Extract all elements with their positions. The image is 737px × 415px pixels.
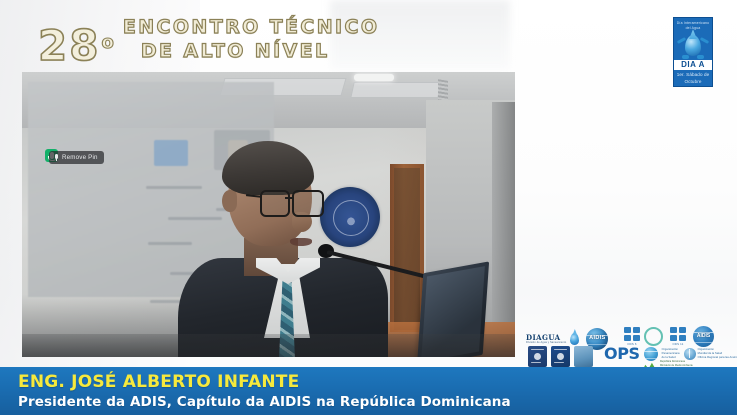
event-title-line-2: DE ALTO NÍVEL (141, 40, 380, 64)
foreground-shadow (22, 334, 515, 357)
video-participant-tile[interactable]: Remove Pin inapa (22, 72, 515, 357)
video-scene (22, 72, 515, 357)
event-ordinal: o (101, 34, 113, 52)
speaker-glasses (260, 190, 322, 214)
drop-body-icon (685, 35, 701, 56)
aidis-name: AIDIS (586, 335, 608, 341)
glasses-lens-left (260, 190, 290, 217)
speaker-hair (222, 141, 314, 195)
remove-pin-label: Remove Pin (62, 154, 98, 161)
sponsor-logo-strip: DIAGUA División de Agua y Saneamiento AI… (516, 322, 737, 368)
diagua-water-drop-icon (570, 333, 579, 345)
badge-line (531, 362, 541, 363)
ops-acronym: OPS (604, 346, 640, 362)
un-globe-icon: AIDIS (693, 326, 714, 347)
badge-emblem-icon (557, 353, 564, 360)
event-title-line-1: ENCONTRO TÉCNICO (123, 16, 380, 40)
ceiling-panel (350, 82, 441, 98)
ceiling-light (354, 74, 394, 81)
sdg-item: ODS 11 (670, 327, 686, 346)
partner-badge (551, 346, 570, 367)
who-line-3: Oficina Regional para las Américas (698, 356, 737, 360)
room-right-strip (492, 102, 515, 352)
drop-arm-right-icon (700, 37, 709, 44)
pin-icon (54, 154, 59, 162)
drop-foot-right-icon (697, 55, 704, 59)
badge-line (531, 349, 544, 350)
who-emblem-icon (684, 348, 696, 360)
dia-interamericano-agua-logo: Día Interamericano del Agua DIA A 1er. S… (673, 17, 713, 87)
ops-org-lines: Organización Panamericana de la Salud (662, 348, 680, 360)
event-title: 28 o ENCONTRO TÉCNICO DE ALTO NÍVEL (38, 16, 379, 66)
sdg-grid-icon (624, 327, 640, 341)
badge-line (554, 349, 567, 350)
diagua-name: DIAGUA (526, 334, 566, 341)
speaker-mouth (290, 238, 312, 246)
partner-badge-photo (574, 346, 593, 367)
ops-org-block: Organización Panamericana de la Salud (662, 348, 680, 360)
speaker-name: ENG. JOSÉ ALBERTO INFANTE (18, 372, 737, 393)
speaker-figure (172, 146, 422, 357)
screenshot-stage: 28 o ENCONTRO TÉCNICO DE ALTO NÍVEL Día … (0, 0, 737, 415)
partner-badge-cards (528, 346, 593, 367)
sdg-ring-icon (644, 327, 663, 346)
diagua-subtitle: División de Agua y Saneamiento (526, 341, 566, 345)
speaker-role: Presidente da ADIS, Capítulo da AIDIS na… (18, 394, 737, 412)
speaker-lower-third-banner: ENG. JOSÉ ALBERTO INFANTE Presidente da … (0, 367, 737, 415)
dia-logo-bottom-text: 1er. Sábado de Octubre (674, 72, 712, 86)
diagua-logo: DIAGUA División de Agua y Saneamiento (526, 334, 566, 345)
badge-emblem-icon (534, 353, 541, 360)
ops-globe-icon (644, 347, 658, 361)
remove-pin-button[interactable]: Remove Pin (49, 151, 104, 164)
drop-foot-left-icon (682, 55, 689, 59)
sdg-grid-icon (670, 327, 686, 341)
event-number: 28 (38, 27, 100, 66)
glasses-lens-right (292, 190, 324, 217)
who-org-block: Organización Mundial de la Salud Oficina… (684, 348, 737, 360)
who-org-lines: Organización Mundial de la Salud Oficina… (698, 348, 737, 360)
partner-badge (528, 346, 547, 367)
dia-logo-band: DIA A (674, 60, 712, 70)
un-globe-label: AIDIS (693, 333, 714, 339)
water-drop-icon (676, 33, 710, 59)
speaker-ear (222, 190, 237, 212)
badge-line (554, 362, 564, 363)
